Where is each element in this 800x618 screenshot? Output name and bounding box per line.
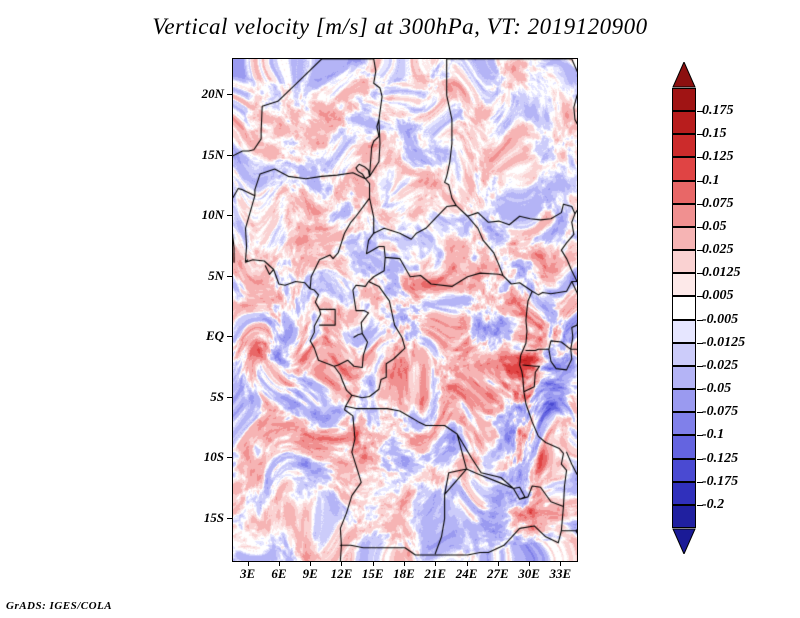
colorbar-band bbox=[672, 157, 696, 180]
y-tick-label: 20N bbox=[202, 86, 224, 102]
x-tick-label: 24E bbox=[456, 566, 478, 582]
x-tick-mark bbox=[498, 561, 499, 566]
colorbar-tick-mark bbox=[697, 250, 703, 251]
colorbar-band bbox=[672, 389, 696, 412]
x-tick-mark bbox=[248, 561, 249, 566]
colorbar-tick-mark bbox=[697, 389, 703, 390]
x-tick-mark bbox=[435, 561, 436, 566]
colorbar-tick-label: 0.075 bbox=[702, 196, 734, 212]
x-tick-mark bbox=[341, 561, 342, 566]
x-tick-label: 12E bbox=[331, 566, 353, 582]
colorbar-band bbox=[672, 343, 696, 366]
x-tick-label: 3E bbox=[240, 566, 255, 582]
colorbar-band bbox=[672, 412, 696, 435]
colorbar-band bbox=[672, 320, 696, 343]
y-tick-mark bbox=[227, 457, 232, 458]
y-tick-mark bbox=[227, 336, 232, 337]
colorbar-band bbox=[672, 482, 696, 505]
colorbar-tick-label: 0.175 bbox=[702, 103, 734, 119]
y-tick-label: 15S bbox=[204, 510, 224, 526]
page-title: Vertical velocity [m/s] at 300hPa, VT: 2… bbox=[0, 14, 800, 40]
colorbar-band bbox=[672, 273, 696, 296]
colorbar-tick-label: 0.05 bbox=[702, 219, 727, 235]
colorbar-tick-mark bbox=[697, 181, 703, 182]
colorbar-tick-label: -0.005 bbox=[702, 312, 738, 328]
y-tick-mark bbox=[227, 518, 232, 519]
colorbar-band bbox=[672, 88, 696, 111]
colorbar-tick-mark bbox=[697, 412, 703, 413]
colorbar-tick-mark bbox=[697, 227, 703, 228]
x-tick-label: 18E bbox=[393, 566, 415, 582]
colorbar-min-arrow bbox=[672, 528, 696, 554]
colorbar-tick-label: -0.175 bbox=[702, 474, 738, 490]
colorbar-tick-mark bbox=[697, 459, 703, 460]
colorbar-tick-label: -0.125 bbox=[702, 451, 738, 467]
colorbar-tick-mark bbox=[697, 134, 703, 135]
x-tick-mark bbox=[310, 561, 311, 566]
colorbar-tick-label: -0.05 bbox=[702, 381, 731, 397]
colorbar-band bbox=[672, 134, 696, 157]
colorbar-tick-label: -0.0125 bbox=[702, 335, 745, 351]
colorbar-band bbox=[672, 435, 696, 458]
y-tick-label: 10N bbox=[202, 207, 224, 223]
y-tick-label: 15N bbox=[202, 147, 224, 163]
colorbar-tick-label: -0.075 bbox=[702, 404, 738, 420]
x-tick-mark bbox=[467, 561, 468, 566]
y-tick-label: 5S bbox=[210, 389, 224, 405]
colorbar-tick-mark bbox=[697, 157, 703, 158]
y-tick-mark bbox=[227, 94, 232, 95]
colorbar-tick-mark bbox=[697, 482, 703, 483]
x-tick-label: 33E bbox=[550, 566, 572, 582]
colorbar-tick-mark bbox=[697, 505, 703, 506]
colorbar-tick-label: -0.025 bbox=[702, 358, 738, 374]
y-tick-mark bbox=[227, 397, 232, 398]
y-tick-mark bbox=[227, 155, 232, 156]
y-tick-mark bbox=[227, 276, 232, 277]
y-tick-label: 5N bbox=[208, 268, 224, 284]
colorbar-tick-label: 0.0125 bbox=[702, 265, 741, 281]
map-plot-area bbox=[232, 58, 576, 560]
x-tick-label: 30E bbox=[518, 566, 540, 582]
x-tick-mark bbox=[560, 561, 561, 566]
colorbar-band bbox=[672, 366, 696, 389]
country-borders-overlay bbox=[233, 59, 577, 561]
colorbar-band bbox=[672, 111, 696, 134]
y-tick-label: 10S bbox=[204, 449, 224, 465]
colorbar-band bbox=[672, 459, 696, 482]
colorbar-band bbox=[672, 227, 696, 250]
colorbar-band bbox=[672, 204, 696, 227]
colorbar bbox=[672, 62, 696, 554]
x-tick-label: 15E bbox=[362, 566, 384, 582]
colorbar-tick-mark bbox=[697, 435, 703, 436]
y-tick-mark bbox=[227, 215, 232, 216]
credit-footer: GrADS: IGES/COLA bbox=[6, 600, 112, 612]
x-tick-mark bbox=[529, 561, 530, 566]
colorbar-tick-mark bbox=[697, 204, 703, 205]
colorbar-band bbox=[672, 505, 696, 528]
colorbar-tick-label: 0.025 bbox=[702, 242, 734, 258]
colorbar-tick-label: 0.1 bbox=[702, 173, 720, 189]
x-tick-mark bbox=[404, 561, 405, 566]
colorbar-tick-mark bbox=[697, 366, 703, 367]
colorbar-tick-label: 0.15 bbox=[702, 126, 727, 142]
colorbar-tick-mark bbox=[697, 343, 703, 344]
colorbar-band bbox=[672, 296, 696, 319]
colorbar-tick-mark bbox=[697, 111, 703, 112]
colorbar-tick-mark bbox=[697, 320, 703, 321]
colorbar-tick-label: -0.1 bbox=[702, 427, 724, 443]
colorbar-tick-label: 0.005 bbox=[702, 288, 734, 304]
x-tick-label: 27E bbox=[487, 566, 509, 582]
x-tick-label: 21E bbox=[424, 566, 446, 582]
x-tick-label: 6E bbox=[271, 566, 286, 582]
colorbar-tick-mark bbox=[697, 273, 703, 274]
colorbar-tick-mark bbox=[697, 296, 703, 297]
x-tick-mark bbox=[373, 561, 374, 566]
colorbar-tick-label: 0.125 bbox=[702, 149, 734, 165]
x-tick-mark bbox=[279, 561, 280, 566]
colorbar-tick-label: -0.2 bbox=[702, 497, 724, 513]
colorbar-max-arrow bbox=[672, 62, 696, 88]
colorbar-band bbox=[672, 181, 696, 204]
y-tick-label: EQ bbox=[206, 328, 224, 344]
x-tick-label: 9E bbox=[303, 566, 318, 582]
colorbar-band bbox=[672, 250, 696, 273]
